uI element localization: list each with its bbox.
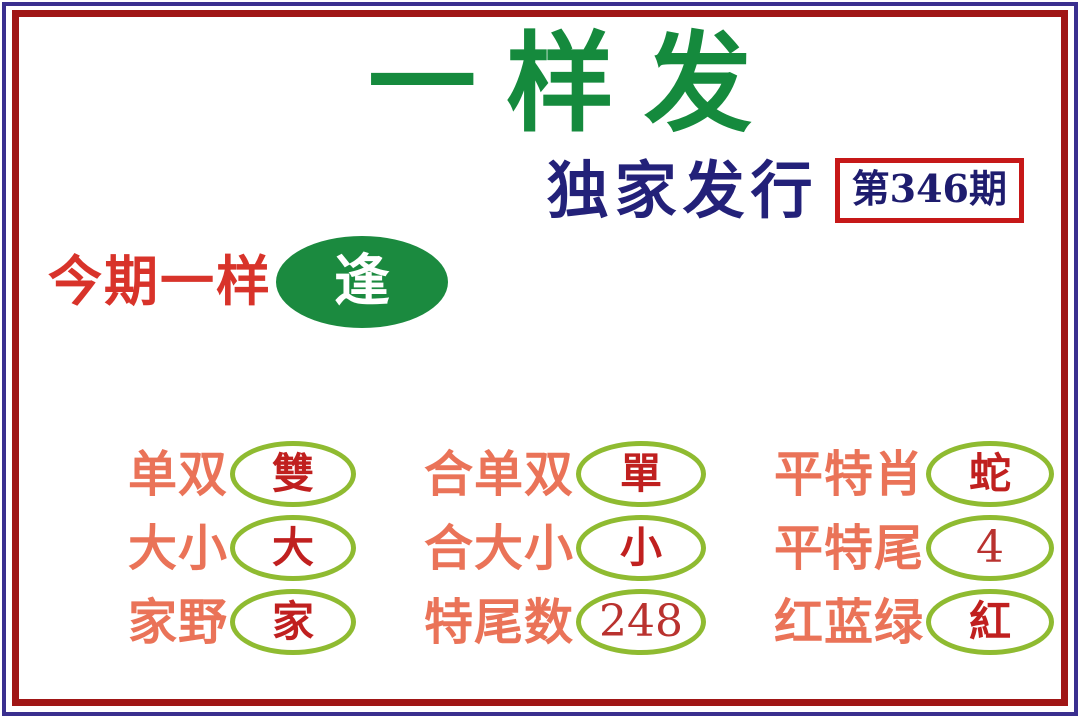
result-row: 特尾数 248 [356,588,706,656]
results-column-1: 单双 雙 大小 大 家野 家 [34,440,356,656]
results-column-2: 合单双 單 合大小 小 特尾数 248 [356,440,706,656]
result-row: 大小 大 [34,514,356,582]
result-row: 家野 家 [34,588,356,656]
result-value-oval: 4 [926,515,1054,581]
result-label: 合大小 [424,524,574,573]
result-label: 红蓝绿 [774,598,924,647]
result-label: 家野 [128,598,228,647]
result-row: 合单双 單 [356,440,706,508]
result-value-oval: 家 [230,589,356,655]
issue-number-badge: 第346期 [835,158,1024,223]
subtitle: 独家发行 [547,160,819,222]
result-row: 合大小 小 [356,514,706,582]
result-row: 平特肖 蛇 [706,440,1054,508]
tagline-highlight-oval: 逢 [276,236,448,328]
result-value-oval: 蛇 [926,441,1054,507]
result-label: 平特尾 [774,524,924,573]
result-value-oval: 248 [576,589,706,655]
result-value-oval: 小 [576,515,706,581]
result-row: 平特尾 4 [706,514,1054,582]
result-label: 单双 [128,450,228,499]
result-label: 合单双 [424,450,574,499]
page-title: 一样发 [20,28,1060,141]
result-value-oval: 雙 [230,441,356,507]
results-column-3: 平特肖 蛇 平特尾 4 红蓝绿 紅 [706,440,1054,656]
lottery-tip-card: 一样发 独家发行 第346期 今期一样 逢 单双 雙 大小 大 家野 [0,0,1080,718]
tagline-label: 今期一样 [48,255,272,309]
result-value-oval: 大 [230,515,356,581]
result-label: 特尾数 [424,598,574,647]
results-grid: 单双 雙 大小 大 家野 家 合单双 單 合大小 [34,440,1054,656]
result-row: 红蓝绿 紅 [706,588,1054,656]
result-label: 平特肖 [774,450,924,499]
tagline-row: 今期一样 逢 [48,236,448,328]
subtitle-row: 独家发行 第346期 [20,158,1060,223]
result-row: 单双 雙 [34,440,356,508]
result-value-oval: 單 [576,441,706,507]
card-content: 一样发 独家发行 第346期 今期一样 逢 单双 雙 大小 大 家野 [20,18,1060,698]
result-value-oval: 紅 [926,589,1054,655]
result-label: 大小 [128,524,228,573]
